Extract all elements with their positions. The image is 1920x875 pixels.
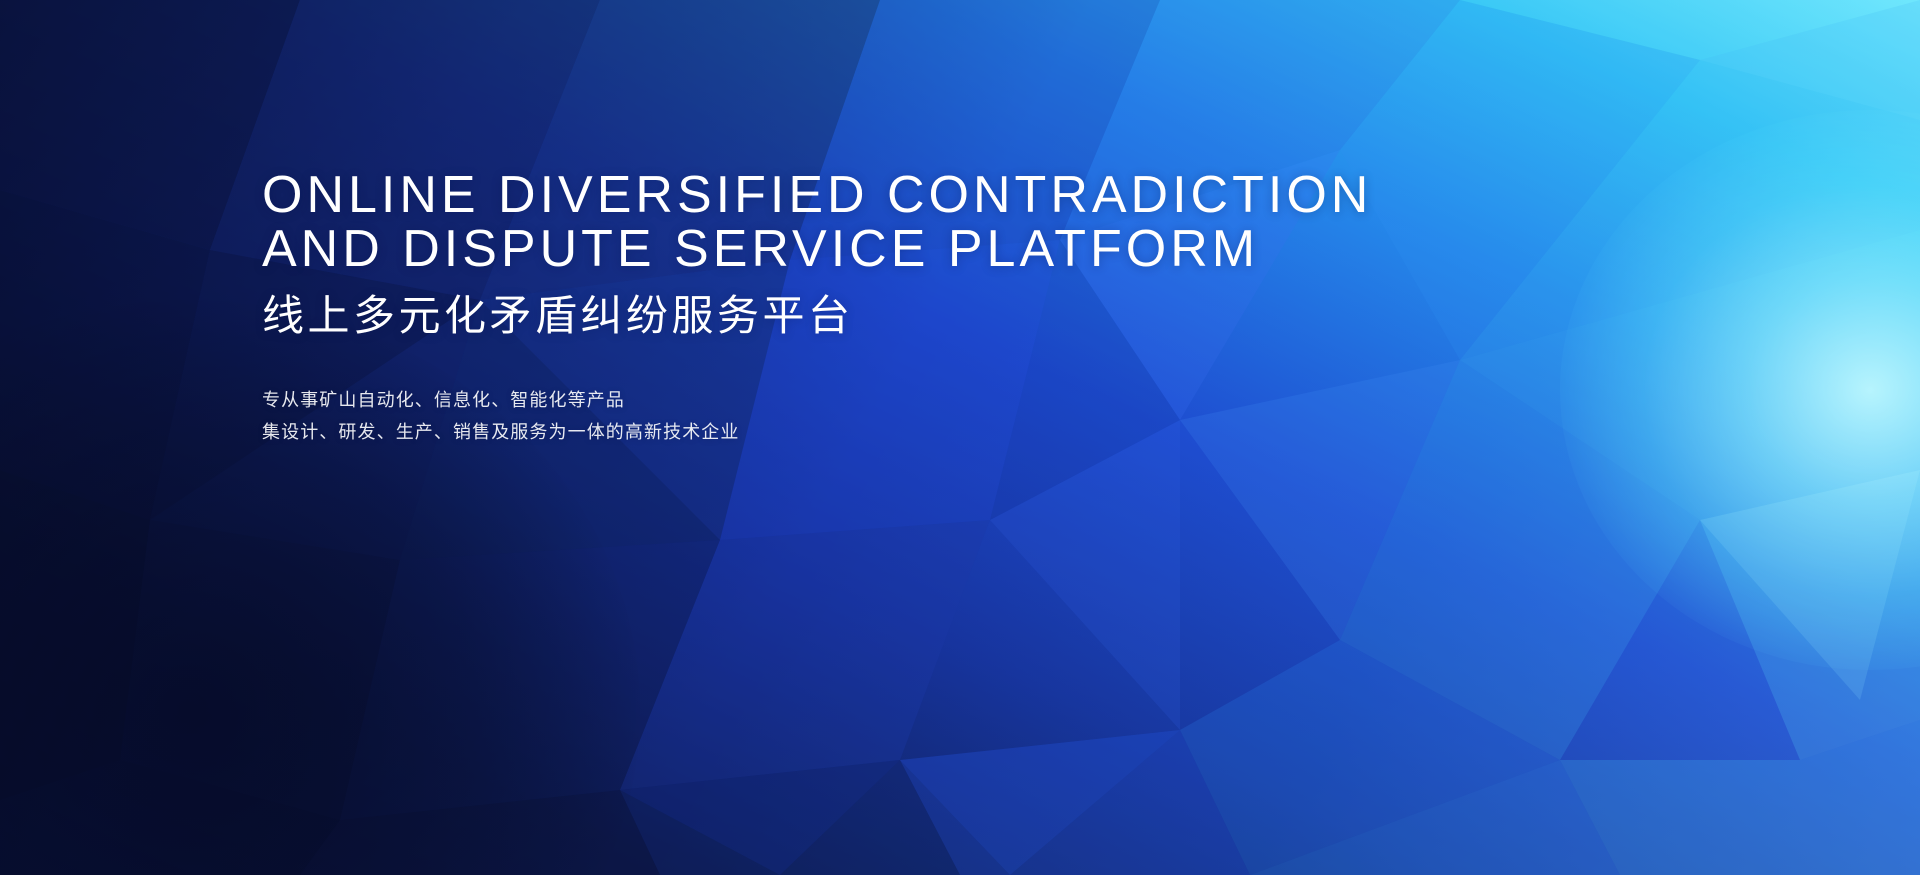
description-line-1: 专从事矿山自动化、信息化、智能化等产品: [262, 384, 1462, 416]
subtitle-chinese: 线上多元化矛盾纠纷服务平台: [262, 290, 1462, 342]
headline-line-1: ONLINE DIVERSIFIED CONTRADICTION: [262, 168, 1462, 222]
headline-line-2: AND DISPUTE SERVICE PLATFORM: [262, 222, 1462, 276]
description-block: 专从事矿山自动化、信息化、智能化等产品 集设计、研发、生产、销售及服务为一体的高…: [262, 384, 1462, 448]
description-line-2: 集设计、研发、生产、销售及服务为一体的高新技术企业: [262, 416, 1462, 448]
hero-text-block: ONLINE DIVERSIFIED CONTRADICTION AND DIS…: [262, 168, 1462, 448]
hero-banner: ONLINE DIVERSIFIED CONTRADICTION AND DIS…: [0, 0, 1920, 875]
